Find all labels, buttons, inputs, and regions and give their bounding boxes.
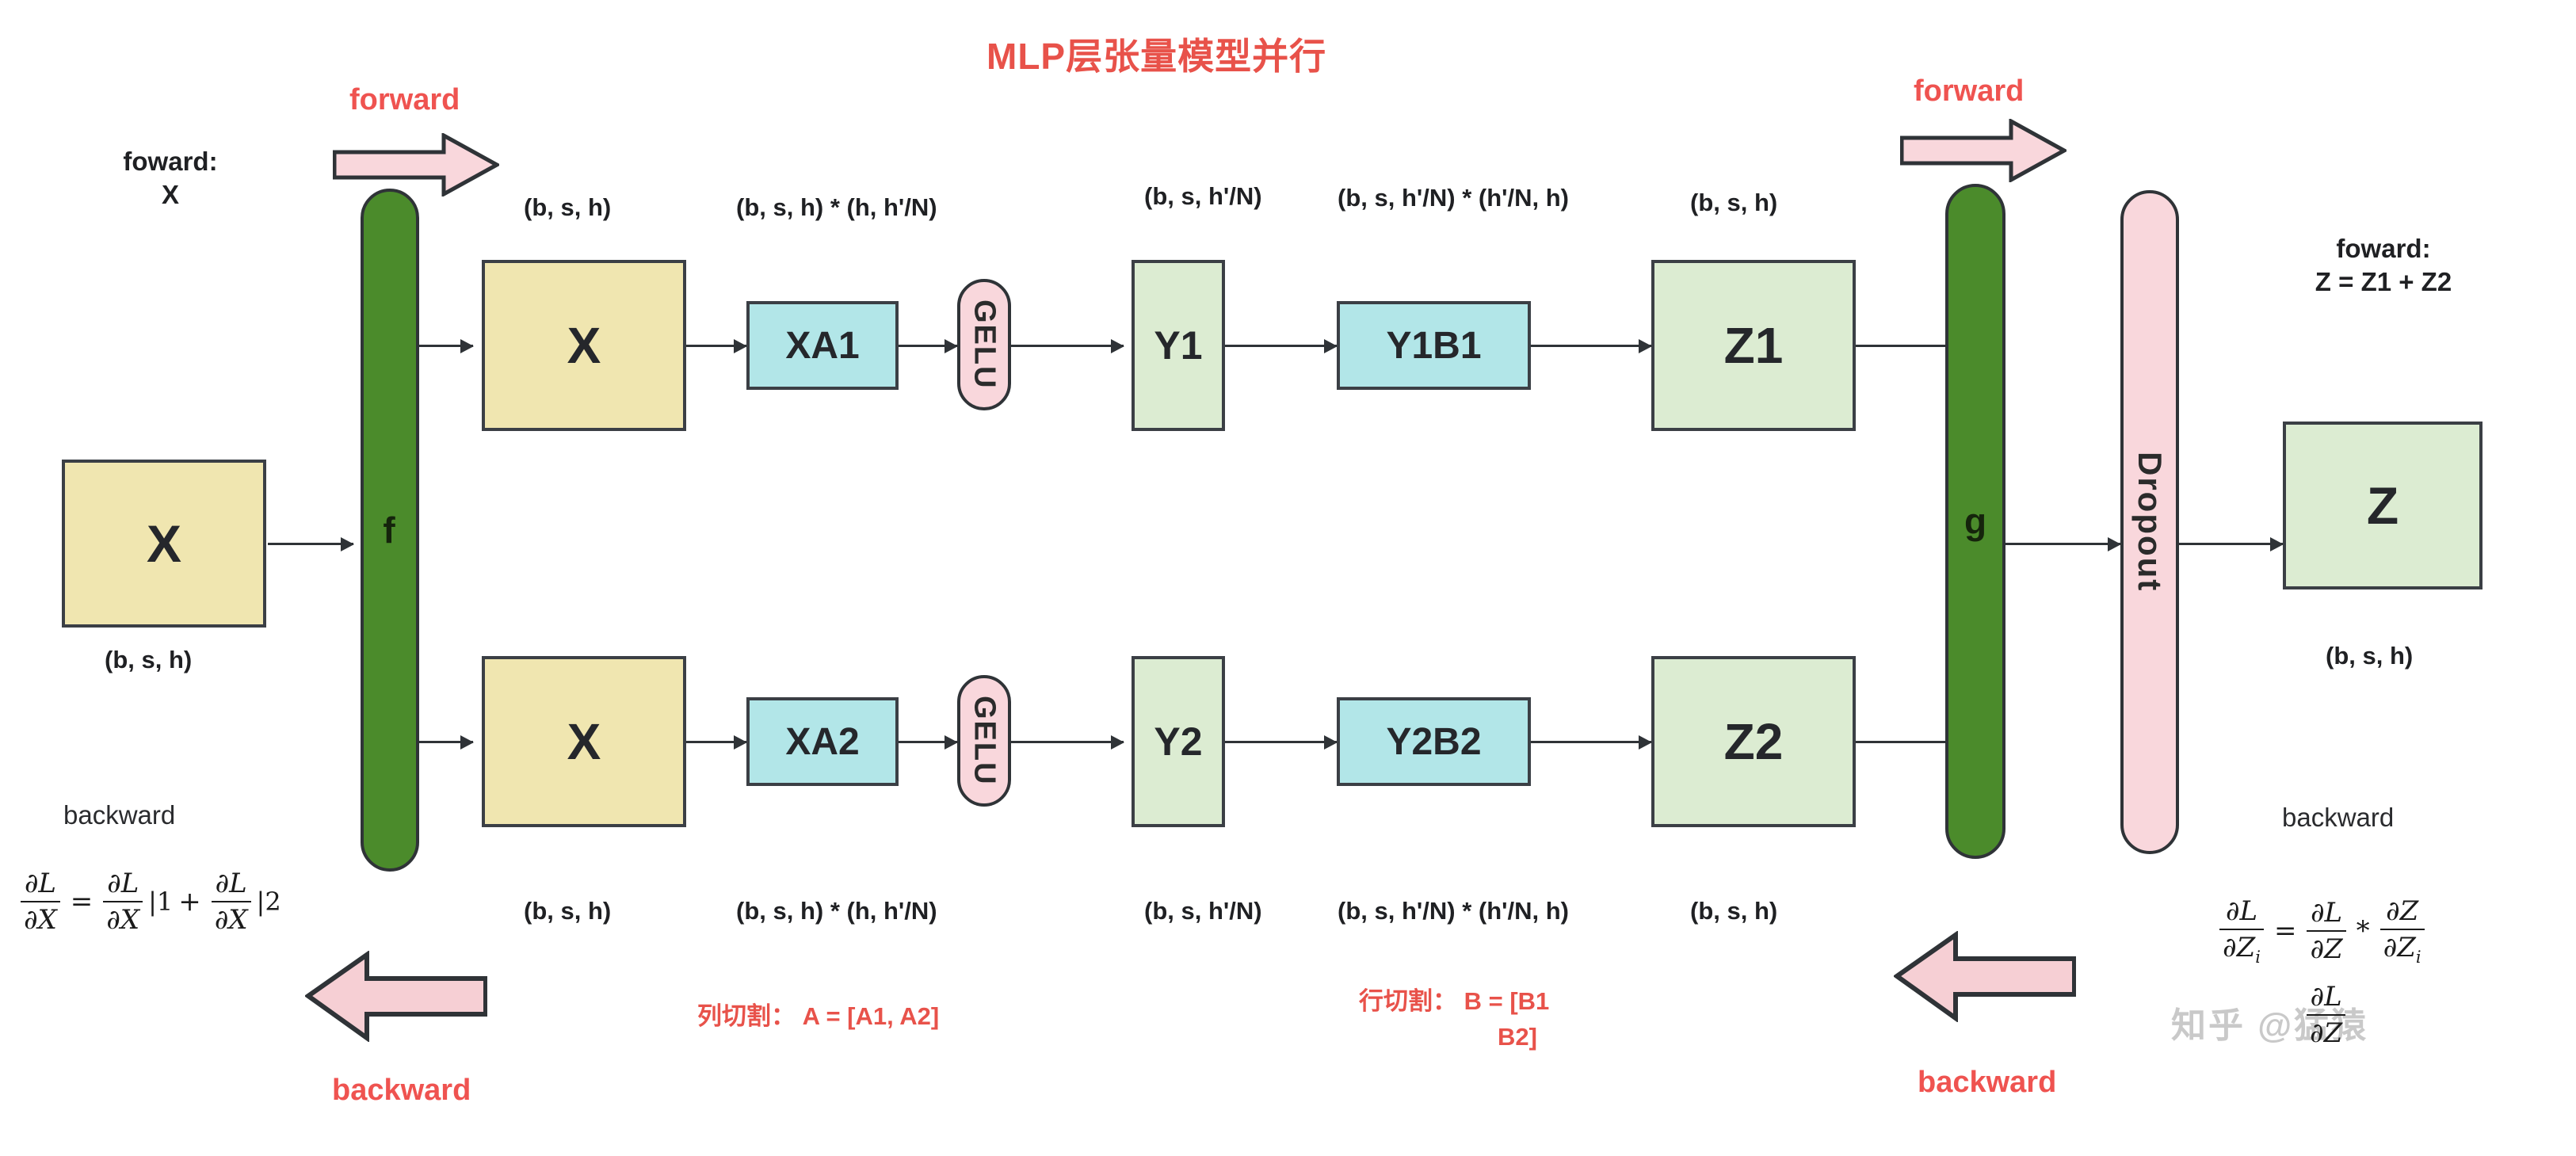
forward-label-left: forward [349, 83, 460, 117]
formula-left-lhs-num: ∂L [21, 868, 59, 901]
forward-arrow-right-icon [1900, 119, 2067, 182]
formula-right-eq: = [2274, 915, 2297, 947]
row2-connector-y-to-yb [1225, 741, 1337, 743]
row1-connector-xa-to-gelu [899, 345, 957, 347]
formula-left-t1-den: ∂X [103, 901, 143, 936]
backward-text-left: backward [63, 800, 175, 830]
formula-backward-left: ∂L ∂X = ∂L ∂X |1 + ∂L ∂X |2 [16, 868, 281, 936]
row2-xa-box: XA2 [746, 697, 899, 786]
row1-gelu-capsule: GELU [957, 279, 1011, 410]
row1-yb-box: Y1B1 [1337, 301, 1531, 390]
connector-x-to-f [268, 543, 353, 545]
dim-top-1: (b, s, h) * (h, h'/N) [736, 193, 937, 222]
row2-connector-gelu-to-y [1011, 741, 1124, 743]
formula-right-lhs-den-sub: i [2255, 948, 2261, 967]
gate-f-capsule: f [361, 189, 419, 872]
gate-f-label: f [383, 509, 396, 551]
row1-z-box: Z1 [1651, 260, 1856, 431]
row2-gelu-label: GELU [967, 696, 1002, 786]
formula-right-line2-num: ∂L [2307, 981, 2345, 1014]
formula-right-t2-den-sub: i [2416, 948, 2421, 967]
connector-dropout-to-z [2179, 543, 2283, 545]
gate-g-capsule: g [1945, 184, 2005, 859]
dim-top-2: (b, s, h'/N) [1144, 182, 1262, 211]
formula-left-t2-den: ∂X [212, 901, 251, 936]
forward-label-right: forward [1914, 74, 2024, 109]
formula-left-plus: + [178, 886, 201, 918]
dim-top-4: (b, s, h) [1690, 189, 1777, 217]
row2-z-box: Z2 [1651, 656, 1856, 827]
row2-connector-xa-to-gelu [899, 741, 957, 743]
row1-xa-box: XA1 [746, 301, 899, 390]
formula-left-t1-suffix: |1 [148, 887, 173, 917]
row1-x-box: X [482, 260, 686, 431]
formula-right-line2-den: ∂Z [2307, 1014, 2345, 1049]
formula-left-eq: = [71, 886, 93, 918]
connector-g-to-dropout [2005, 543, 2120, 545]
backward-text-right: backward [2282, 803, 2394, 833]
foward-out-label: foward: [2280, 230, 2486, 268]
forward-arrow-left-icon [333, 133, 499, 196]
dropout-label: Dropout [2131, 452, 2169, 592]
backward-label-right: backward [1918, 1066, 2056, 1100]
row2-gelu-capsule: GELU [957, 675, 1011, 807]
formula-left-t1-num: ∂L [104, 868, 142, 901]
row1-gelu-label: GELU [967, 299, 1002, 390]
formula-right-t1-num: ∂L [2307, 897, 2345, 930]
formula-right-t2-num: ∂Z [2383, 895, 2421, 929]
connector-f-to-row2 [419, 741, 473, 743]
output-z-box: Z [2283, 422, 2483, 589]
dim-bottom-1: (b, s, h) * (h, h'/N) [736, 897, 937, 925]
dim-bottom-2: (b, s, h'/N) [1144, 897, 1262, 925]
formula-left-t2-num: ∂L [212, 868, 250, 901]
foward-in-value: X [107, 176, 234, 214]
row-split-note-line2: B2] [1498, 1021, 1537, 1054]
formula-right-lhs-den: ∂Z [2223, 932, 2255, 963]
backward-arrow-left-icon [305, 951, 487, 1042]
row2-x-box: X [482, 656, 686, 827]
dim-bottom-3: (b, s, h'/N) * (h'/N, h) [1338, 897, 1569, 925]
formula-backward-right: ∂L ∂Zi = ∂L ∂Z * ∂Z ∂Zi [2215, 895, 2429, 967]
row1-connector-y-to-yb [1225, 345, 1337, 347]
row1-connector-gelu-to-y [1011, 345, 1124, 347]
row1-y-box: Y1 [1132, 260, 1225, 431]
dim-bottom-0: (b, s, h) [524, 897, 611, 925]
backward-arrow-right-icon [1894, 931, 2076, 1022]
gate-g-label: g [1964, 500, 1986, 543]
output-z-dim: (b, s, h) [2326, 642, 2413, 670]
input-x-dim: (b, s, h) [105, 646, 192, 674]
formula-left-lhs-den: ∂X [21, 901, 60, 936]
row2-connector-x-to-xa [686, 741, 746, 743]
dropout-capsule: Dropout [2120, 190, 2179, 854]
diagram-canvas: MLP层张量模型并行 foward: X forward X (b, s, h)… [0, 0, 2576, 1156]
formula-right-lhs-num: ∂L [2223, 895, 2261, 929]
backward-label-left: backward [332, 1074, 471, 1108]
row2-yb-box: Y2B2 [1337, 697, 1531, 786]
foward-in-label: foward: [107, 143, 234, 181]
formula-left-t2-suffix: |2 [257, 887, 281, 917]
dim-top-0: (b, s, h) [524, 193, 611, 222]
row2-connector-yb-to-z [1531, 741, 1651, 743]
formula-right-t2-den: ∂Z [2383, 932, 2416, 963]
formula-backward-right-line2: ∂L ∂Z [2302, 981, 2350, 1049]
row-split-note-line1: 行切割： B = [B1 [1359, 985, 1549, 1018]
col-split-note: 列切割： A = [A1, A2] [697, 1000, 939, 1033]
row2-y-box: Y2 [1132, 656, 1225, 827]
page-title: MLP层张量模型并行 [987, 28, 1326, 80]
formula-right-mul: * [2357, 915, 2370, 947]
row1-connector-yb-to-z [1531, 345, 1651, 347]
dim-bottom-4: (b, s, h) [1690, 897, 1777, 925]
formula-right-t1-den: ∂Z [2307, 930, 2345, 965]
dim-top-3: (b, s, h'/N) * (h'/N, h) [1338, 184, 1569, 212]
foward-out-value: Z = Z1 + Z2 [2280, 263, 2486, 301]
row1-connector-x-to-xa [686, 345, 746, 347]
input-x-box: X [62, 460, 266, 628]
connector-f-to-row1 [419, 345, 473, 347]
